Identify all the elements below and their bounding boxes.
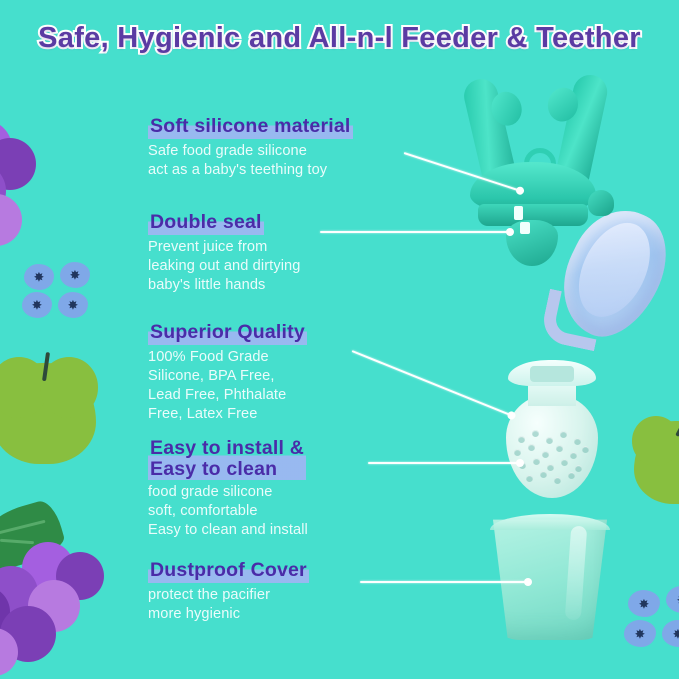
apple-body <box>0 363 96 464</box>
feature-body: 100% Food Grade Silicone, BPA Free, Lead… <box>148 348 307 424</box>
blueberry-icon: ✸ <box>22 292 52 318</box>
feature-heading: Soft silicone material <box>148 116 353 139</box>
feeder-hinge <box>588 190 614 216</box>
blueberry-icon: ✸ <box>58 292 88 318</box>
leader-line-superior-quality <box>352 350 512 416</box>
feature-heading: Easy to install & Easy to clean <box>148 438 306 480</box>
feature-heading: Superior Quality <box>148 322 307 345</box>
blueberry-icon: ✸ <box>24 264 54 290</box>
lavender-cover-strap <box>539 289 605 352</box>
blueberry-icon: ✸ <box>662 620 679 647</box>
blueberry-icon: ✸ <box>60 262 90 288</box>
dustproof-cover-rim <box>490 514 610 530</box>
feature-heading: Dustproof Cover <box>148 560 309 583</box>
green-apple-right <box>634 412 679 504</box>
blueberry-icon: ✸ <box>666 586 679 613</box>
grape-cluster-bottom-left <box>0 510 124 679</box>
berry-star-icon: ✸ <box>639 597 650 610</box>
leader-dot <box>516 459 524 467</box>
leader-dot <box>506 228 514 236</box>
product-image-dustproof-cover <box>488 512 612 644</box>
leader-dot <box>524 578 532 586</box>
dustproof-cover-cup <box>488 512 612 640</box>
berry-star-icon: ✸ <box>68 299 79 312</box>
feature-block-double-seal: Double seal Prevent juice from leaking o… <box>148 212 301 295</box>
pouch-slot <box>530 366 574 382</box>
berry-star-icon: ✸ <box>32 299 43 312</box>
leader-line-double-seal <box>320 231 510 233</box>
blueberry-cluster-left: ✸ ✸ ✸ ✸ <box>22 262 104 324</box>
feature-heading: Double seal <box>148 212 264 235</box>
page-title: Safe, Hygienic and All-n-l Feeder & Teet… <box>0 22 679 55</box>
berry-star-icon: ✸ <box>34 271 45 284</box>
blueberry-cluster-right: ✸ ✸ ✸ ✸ <box>622 586 679 656</box>
blueberry-icon: ✸ <box>628 590 660 617</box>
feeder-nipple <box>506 220 558 266</box>
grape-berry <box>0 138 36 190</box>
leader-line-dustproof-cover <box>360 581 528 583</box>
feature-block-soft-silicone-material: Soft silicone material Safe food grade s… <box>148 116 353 180</box>
feature-body: Safe food grade silicone act as a baby's… <box>148 142 353 180</box>
blueberry-icon: ✸ <box>624 620 656 647</box>
pouch-perforations <box>514 430 590 486</box>
feature-body: food grade silicone soft, comfortable Ea… <box>148 483 308 540</box>
product-image-feeder <box>452 72 679 357</box>
leader-line-easy-to-install <box>368 462 520 464</box>
feature-body: Prevent juice from leaking out and dirty… <box>148 238 301 295</box>
feature-body: protect the pacifier more hygienic <box>148 586 309 624</box>
feature-block-easy-to-install: Easy to install & Easy to clean food gra… <box>148 438 308 540</box>
berry-star-icon: ✸ <box>635 627 646 640</box>
product-image-pouch <box>492 360 612 500</box>
green-apple-left <box>0 352 96 464</box>
grape-berry <box>0 194 22 246</box>
berry-star-icon: ✸ <box>673 627 679 640</box>
infographic-canvas: ✸ ✸ ✸ ✸ ✸ ✸ ✸ ✸ Safe, Hygienic and All-n… <box>0 0 679 679</box>
apple-body <box>634 421 679 504</box>
feature-block-dustproof-cover: Dustproof Cover protect the pacifier mor… <box>148 560 309 624</box>
berry-star-icon: ✸ <box>70 269 81 282</box>
feature-block-superior-quality: Superior Quality 100% Food Grade Silicon… <box>148 322 307 424</box>
